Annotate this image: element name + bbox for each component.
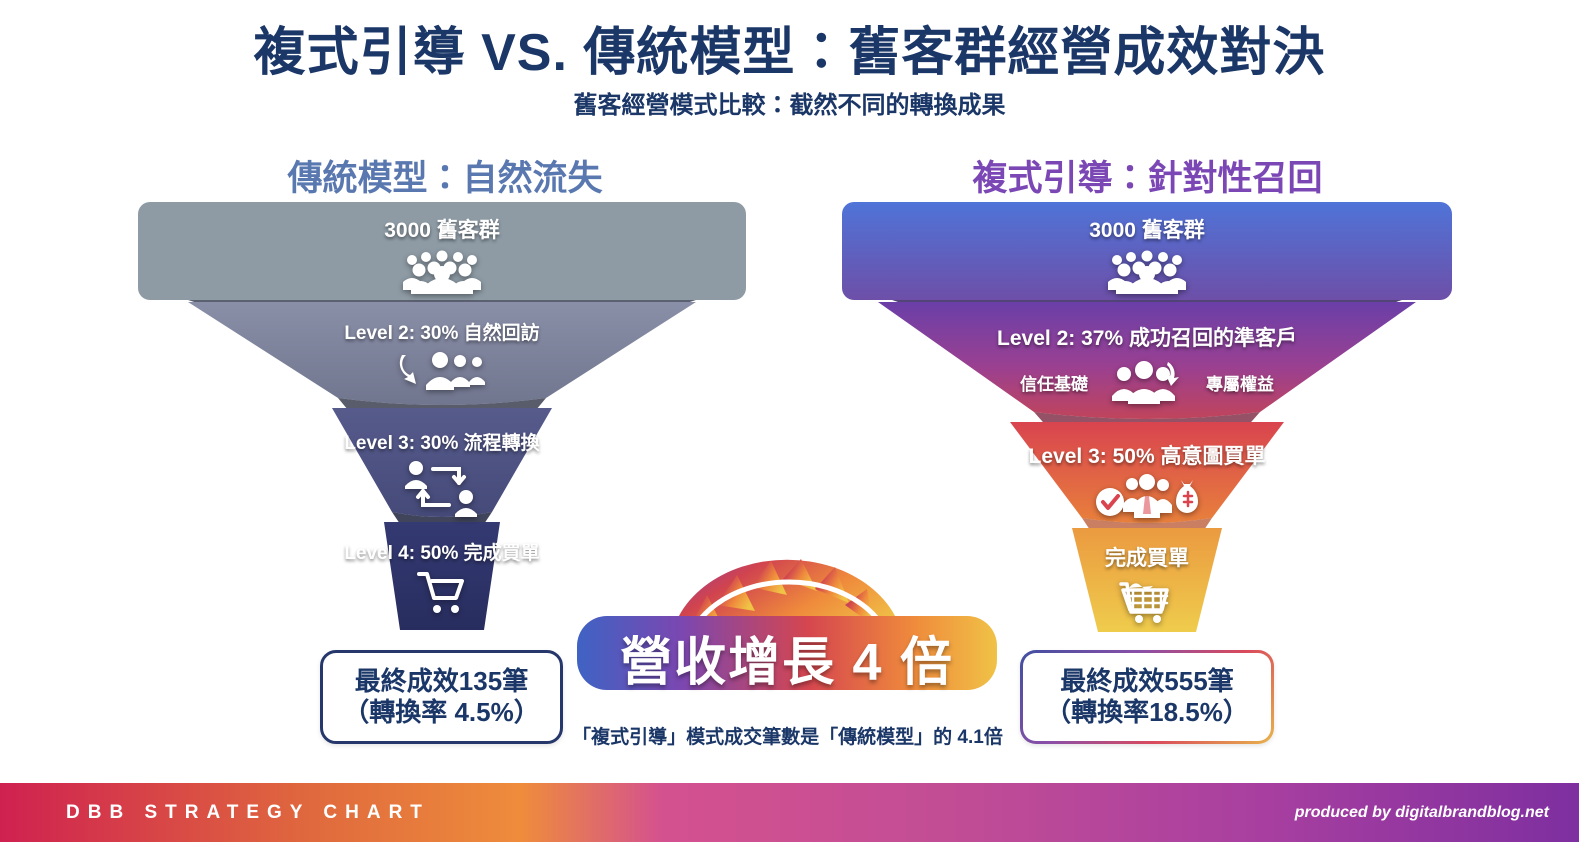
footer-bar: DBB STRATEGY CHART produced by digitalbr… [0,783,1579,842]
result-traditional-rate: （轉換率 4.5%） [323,697,560,728]
footer-credit: produced by digitalbrandblog.net [1295,783,1549,842]
result-traditional-orders: 最終成效135筆 [323,666,560,697]
result-box-compound: 最終成效555筆 （轉換率18.5%） [1020,650,1274,744]
funnel-header-compound: 複式引導：針對性召回 [840,150,1455,201]
result-compound-orders: 最終成效555筆 [1023,666,1271,697]
result-compound-rate: （轉換率18.5%） [1023,697,1271,728]
infographic-canvas: 複式引導 VS. 傳統模型：舊客群經營成效對決 舊客經營模式比較：截然不同的轉換… [0,0,1579,842]
funnel-header-traditional: 傳統模型：自然流失 [140,150,750,201]
page-subtitle: 舊客經營模式比較：截然不同的轉換成果 [0,85,1579,120]
page-title: 複式引導 VS. 傳統模型：舊客群經營成效對決 [0,10,1579,85]
highlight-badge: 營收增長 4 倍 [573,556,1001,696]
badge-caption: 「複式引導」模式成交筆數是「傳統模型」的 4.1倍 [560,722,1015,749]
result-box-traditional: 最終成效135筆 （轉換率 4.5%） [320,650,563,744]
footer-brand: DBB STRATEGY CHART [66,783,430,842]
badge-text: 營收增長 4 倍 [573,620,1001,695]
